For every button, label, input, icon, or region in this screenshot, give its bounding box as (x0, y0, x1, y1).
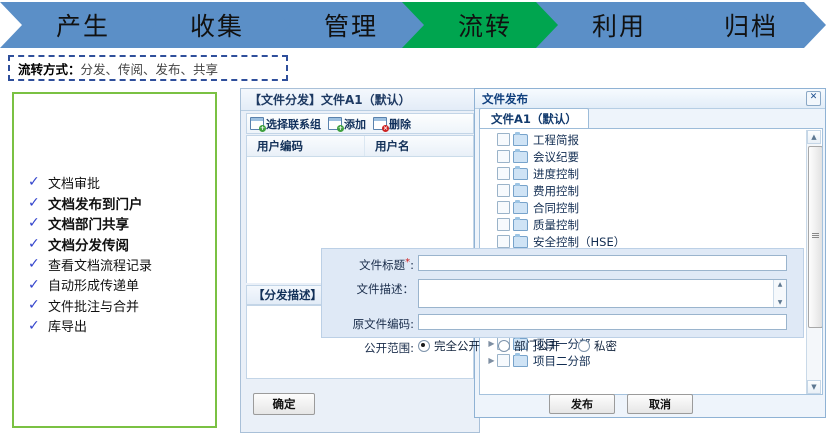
original-code-label: 原文件编码: (322, 314, 418, 332)
list-item: ✓ 文档分发传阅 (28, 234, 218, 255)
distribution-panel-title: 【文件分发】文件A1（默认） (241, 89, 479, 111)
folder-icon (513, 202, 528, 214)
feature-label: 自动形成传递单 (48, 275, 139, 294)
window-add-icon: + (250, 117, 264, 130)
list-item[interactable]: ▶ 工程简报 (480, 131, 806, 148)
tree-vertical-scrollbar[interactable]: ▲ ▼ (806, 130, 821, 394)
radio-label: 完全公开 (434, 338, 480, 354)
close-icon[interactable]: ✕ (806, 91, 821, 106)
tree-item-label: 工程简报 (533, 132, 579, 148)
check-icon: ✓ (28, 175, 48, 189)
check-icon: ✓ (28, 237, 48, 251)
add-button[interactable]: + 添加 (328, 116, 366, 132)
check-icon: ✓ (28, 298, 48, 312)
process-stage-label: 流转 (452, 7, 512, 43)
tab-file-a1[interactable]: 文件A1（默认） (479, 108, 589, 128)
feature-label: 库导出 (48, 316, 87, 335)
process-stage-5[interactable]: 利用 (536, 2, 696, 48)
folder-icon (513, 219, 528, 231)
radio-department[interactable]: 部门公开 (498, 338, 560, 354)
chevron-right-icon: ▶ (486, 169, 497, 178)
list-item: ✓ 查看文档流程记录 (28, 254, 218, 275)
process-stage-label: 管理 (318, 7, 378, 43)
publish-dialog-footer: 发布 取消 (479, 394, 823, 414)
tree-checkbox[interactable] (497, 184, 510, 197)
window-add-icon: + (328, 117, 342, 130)
check-icon: ✓ (28, 319, 48, 333)
check-icon: ✓ (28, 278, 48, 292)
chevron-right-icon: ▶ (486, 203, 497, 212)
check-icon: ✓ (28, 196, 48, 210)
process-chevron-bar: 产生 收集 管理 流转 利用 归档 (0, 2, 826, 50)
list-item[interactable]: ▶ 进度控制 (480, 165, 806, 182)
list-item[interactable]: ▶ 质量控制 (480, 216, 806, 233)
button-label: 选择联系组 (266, 116, 321, 132)
column-header-user-name[interactable]: 用户名 (365, 136, 473, 156)
chevron-right-icon: ▶ (486, 135, 497, 144)
publish-tab-strip: 文件A1（默认） (479, 110, 823, 129)
list-item: ✓ 文档部门共享 (28, 213, 218, 234)
radio-dot-icon (578, 340, 590, 352)
distribution-toolbar: + 选择联系组 + 添加 × 删除 (246, 113, 474, 134)
feature-label: 文档发布到门户 (48, 193, 143, 213)
process-stage-2[interactable]: 收集 (134, 2, 294, 48)
file-desc-label: 文件描述： (322, 279, 418, 297)
form-row-scope: 公开范围: 完全公开 部门公开 私密 (322, 338, 803, 356)
form-row-title: 文件标题*: (322, 255, 803, 273)
chevron-right-icon: ▶ (486, 220, 497, 229)
process-stage-label: 归档 (718, 7, 778, 43)
radio-public-all[interactable]: 完全公开 (418, 338, 480, 354)
original-code-input[interactable] (418, 314, 787, 330)
scroll-up-arrow-icon[interactable]: ▲ (774, 280, 786, 289)
flow-method-note: 流转方式： 分发、传阅、发布、共享 (8, 55, 288, 81)
list-item[interactable]: ▶ 合同控制 (480, 199, 806, 216)
column-header-user-code[interactable]: 用户编码 (247, 136, 365, 156)
radio-dot-icon (498, 340, 510, 352)
confirm-button[interactable]: 确定 (253, 393, 315, 415)
tree-checkbox[interactable] (497, 150, 510, 163)
scope-radio-group: 完全公开 部门公开 私密 (418, 338, 635, 354)
feature-label: 文件批注与合并 (48, 296, 139, 315)
table-header-row: 用户编码 用户名 (247, 136, 473, 157)
list-item: ✓ 库导出 (28, 316, 218, 337)
publish-dialog-title: 文件发布 (482, 91, 806, 107)
scope-label: 公开范围: (322, 338, 418, 356)
tree-checkbox[interactable] (497, 235, 510, 248)
list-item: ✓ 文件批注与合并 (28, 295, 218, 316)
radio-label: 部门公开 (514, 338, 560, 354)
process-stage-label: 利用 (586, 7, 646, 43)
publish-form-overlay: 文件标题*: 文件描述： ▲ ▼ 原文件编码: 公开范围: 完全公开 (321, 248, 804, 338)
folder-icon (513, 236, 528, 248)
publish-dialog-titlebar: 文件发布 ✕ (475, 89, 825, 109)
list-item: ✓ 文档审批 (28, 172, 218, 193)
check-icon: ✓ (28, 216, 48, 230)
chevron-right-icon: ▶ (486, 237, 497, 246)
chevron-right-icon: ▶ (486, 186, 497, 195)
folder-icon (513, 168, 528, 180)
textarea-scrollbar[interactable]: ▲ ▼ (773, 280, 786, 307)
tree-item-label: 合同控制 (533, 200, 579, 216)
process-stage-6[interactable]: 归档 (670, 2, 826, 48)
feature-label: 查看文档流程记录 (48, 255, 152, 274)
tree-checkbox[interactable] (497, 218, 510, 231)
feature-list-box: ✓ 文档审批 ✓ 文档发布到门户 ✓ 文档部门共享 ✓ 文档分发传阅 ✓ 查看文… (12, 92, 217, 428)
select-contact-group-button[interactable]: + 选择联系组 (250, 116, 321, 132)
feature-label: 文档审批 (48, 173, 100, 192)
radio-private[interactable]: 私密 (578, 338, 617, 354)
tree-checkbox[interactable] (497, 201, 510, 214)
flow-method-value: 分发、传阅、发布、共享 (81, 59, 219, 78)
tree-item-label: 费用控制 (533, 183, 579, 199)
form-row-origcode: 原文件编码: (322, 314, 803, 332)
process-stage-1[interactable]: 产生 (0, 2, 160, 48)
process-stage-label: 产生 (50, 7, 110, 43)
cancel-button[interactable]: 取消 (627, 394, 693, 414)
process-stage-3[interactable]: 管理 (268, 2, 428, 48)
list-item[interactable]: ▶ 费用控制 (480, 182, 806, 199)
delete-button[interactable]: × 删除 (373, 116, 411, 132)
list-item[interactable]: ▶ 会议纪要 (480, 148, 806, 165)
tree-item-label: 进度控制 (533, 166, 579, 182)
feature-label: 文档分发传阅 (48, 234, 129, 254)
scrollbar-thumb[interactable] (808, 146, 823, 328)
tree-checkbox[interactable] (497, 133, 510, 146)
folder-icon (513, 134, 528, 146)
folder-icon (513, 151, 528, 163)
check-icon: ✓ (28, 257, 48, 271)
list-item: ✓ 自动形成传递单 (28, 275, 218, 296)
file-desc-textarea[interactable]: ▲ ▼ (418, 279, 787, 308)
flow-method-label: 流转方式： (18, 59, 81, 78)
button-label: 删除 (389, 116, 411, 132)
process-stage-4-active[interactable]: 流转 (402, 2, 562, 48)
file-title-label: 文件标题*: (322, 255, 418, 273)
window-delete-icon: × (373, 117, 387, 130)
chevron-right-icon[interactable]: ▶ (486, 356, 497, 365)
feature-list: ✓ 文档审批 ✓ 文档发布到门户 ✓ 文档部门共享 ✓ 文档分发传阅 ✓ 查看文… (28, 172, 218, 336)
radio-label: 私密 (594, 338, 617, 354)
process-stage-label: 收集 (184, 7, 244, 43)
publish-button[interactable]: 发布 (549, 394, 615, 414)
scroll-up-arrow-icon[interactable]: ▲ (807, 130, 821, 144)
scroll-down-arrow-icon[interactable]: ▼ (807, 380, 821, 394)
folder-icon (513, 185, 528, 197)
radio-dot-icon (418, 340, 430, 352)
tree-item-label: 会议纪要 (533, 149, 579, 165)
required-mark: * (405, 257, 410, 268)
feature-label: 文档部门共享 (48, 213, 129, 233)
tree-checkbox[interactable] (497, 167, 510, 180)
scroll-down-arrow-icon[interactable]: ▼ (774, 298, 786, 307)
folder-icon (513, 355, 528, 367)
chevron-right-icon: ▶ (486, 152, 497, 161)
form-row-desc: 文件描述： ▲ ▼ (322, 279, 803, 308)
scrollbar-grip-icon (812, 233, 819, 239)
screenshot-root: 产生 收集 管理 流转 利用 归档 流转方式： 分发、传阅、发布、共享 ✓ 文档… (0, 0, 826, 436)
tree-item-label: 质量控制 (533, 217, 579, 233)
file-title-input[interactable] (418, 255, 787, 271)
list-item: ✓ 文档发布到门户 (28, 193, 218, 214)
button-label: 添加 (344, 116, 366, 132)
